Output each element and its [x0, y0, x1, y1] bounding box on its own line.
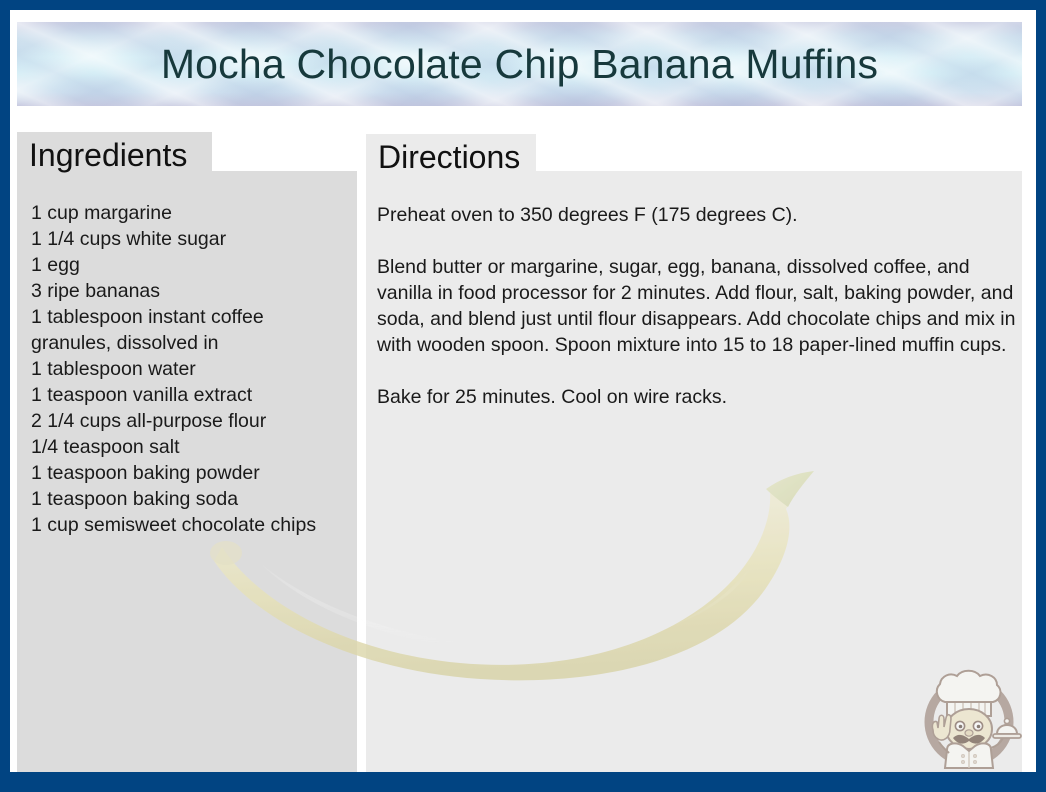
- directions-text: Preheat oven to 350 degrees F (175 degre…: [377, 202, 1022, 410]
- directions-paragraph: Blend butter or margarine, sugar, egg, b…: [377, 254, 1022, 358]
- directions-heading-tab: Directions: [366, 134, 536, 180]
- list-item: 1 egg: [31, 252, 361, 278]
- list-item: 1 teaspoon vanilla extract: [31, 382, 361, 408]
- directions-heading: Directions: [378, 141, 520, 173]
- chef-mascot-logo: [913, 656, 1031, 772]
- list-item: 1 teaspoon baking soda: [31, 486, 361, 512]
- recipe-slide: Mocha Chocolate Chip Banana Muffins Ingr…: [10, 10, 1036, 772]
- list-item: 1/4 teaspoon salt: [31, 434, 361, 460]
- title-banner: Mocha Chocolate Chip Banana Muffins: [17, 22, 1022, 106]
- page-title: Mocha Chocolate Chip Banana Muffins: [161, 44, 878, 85]
- list-item: 1 cup semisweet chocolate chips: [31, 512, 361, 538]
- ingredients-list: 1 cup margarine 1 1/4 cups white sugar 1…: [31, 200, 361, 538]
- ingredients-heading-tab: Ingredients: [17, 132, 212, 178]
- directions-paragraph: Bake for 25 minutes. Cool on wire racks.: [377, 384, 1022, 410]
- list-item: 1 1/4 cups white sugar: [31, 226, 361, 252]
- list-item: 1 cup margarine: [31, 200, 361, 226]
- list-item: 1 tablespoon instant coffee: [31, 304, 361, 330]
- list-item: granules, dissolved in: [31, 330, 361, 356]
- list-item: 1 tablespoon water: [31, 356, 361, 382]
- ingredients-heading: Ingredients: [29, 139, 187, 171]
- list-item: 2 1/4 cups all-purpose flour: [31, 408, 361, 434]
- directions-paragraph: Preheat oven to 350 degrees F (175 degre…: [377, 202, 1022, 228]
- list-item: 3 ripe bananas: [31, 278, 361, 304]
- list-item: 1 teaspoon baking powder: [31, 460, 361, 486]
